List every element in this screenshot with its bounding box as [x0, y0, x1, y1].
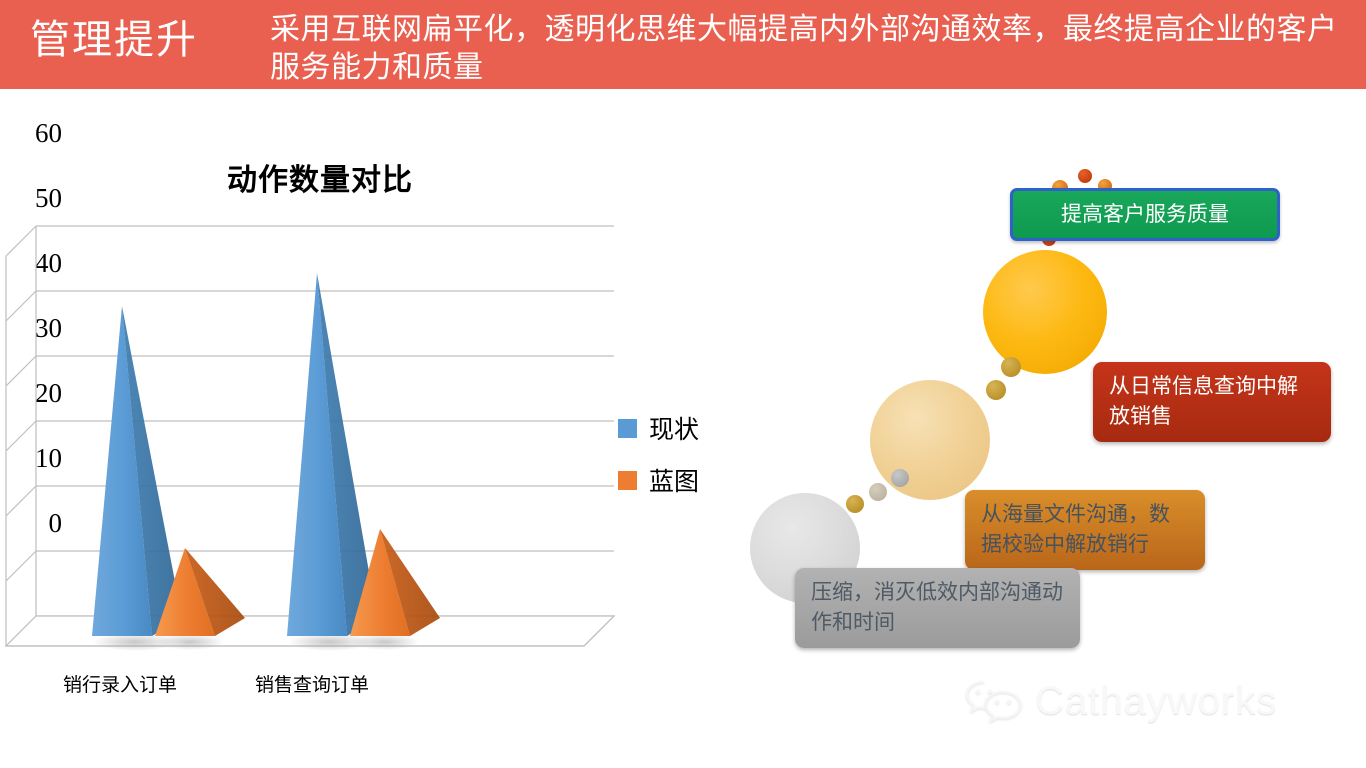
legend-label-0: 现状: [649, 410, 699, 446]
node-goal-box[interactable]: 提高客户服务质量: [1010, 188, 1280, 241]
legend-item-1: 蓝图: [618, 462, 699, 498]
wechat-icon: [965, 678, 1023, 724]
x-label-1: 销售查询订单: [222, 670, 402, 697]
slide-root: 管理提升 采用互联网扁平化，透明化思维大幅提高内外部沟通效率，最终提高企业的客户…: [0, 0, 1366, 768]
dot-trail-low-1: [846, 495, 864, 513]
y-tick-60: 60: [0, 118, 62, 149]
legend-label-1: 蓝图: [649, 462, 699, 498]
bubble-sales: [983, 250, 1107, 374]
chart-depth-edges: [6, 226, 36, 646]
legend-swatch-蓝图: [618, 471, 637, 490]
node-xiaohang-label: 从海量文件沟通，数据校验中解放销行: [981, 500, 1189, 560]
chart-title: 动作数量对比: [0, 155, 640, 199]
chart-legend: 现状 蓝图: [618, 410, 699, 514]
x-label-0: 销行录入订单: [30, 670, 210, 697]
dot-trail-mid-2: [1001, 357, 1021, 377]
watermark-brand: Cathayworks: [1035, 679, 1277, 724]
node-internal-label: 压缩，消灭低效内部沟通动作和时间: [811, 578, 1064, 638]
node-goal-label: 提高客户服务质量: [1061, 200, 1229, 230]
node-internal-box[interactable]: 压缩，消灭低效内部沟通动作和时间: [795, 568, 1080, 648]
legend-item-0: 现状: [618, 410, 699, 446]
page-title: 管理提升: [0, 0, 270, 62]
dot-trail-low-2: [869, 483, 887, 501]
dot-trail-mid-1: [986, 380, 1006, 400]
y-tick-50: 50: [0, 183, 62, 214]
slide-header: 管理提升 采用互联网扁平化，透明化思维大幅提高内外部沟通效率，最终提高企业的客户…: [0, 0, 1366, 89]
staircase-diagram: 提高客户服务质量 从日常信息查询中解放销售 从海量文件沟通，数据校验中解放销行 …: [700, 100, 1366, 720]
bubble-xiaohang: [870, 380, 990, 500]
watermark: Cathayworks: [965, 678, 1277, 724]
node-xiaohang-box[interactable]: 从海量文件沟通，数据校验中解放销行: [965, 490, 1205, 570]
chart-panel: 动作数量对比 60 50 40 30 20 10 0: [0, 100, 710, 720]
dot-trail-top-7: [1078, 169, 1092, 183]
node-sales-box[interactable]: 从日常信息查询中解放销售: [1093, 362, 1331, 442]
chart-plot-area: [0, 218, 640, 658]
legend-swatch-现状: [618, 419, 637, 438]
dot-trail-low-3: [891, 469, 909, 487]
node-sales-label: 从日常信息查询中解放销售: [1109, 372, 1315, 432]
header-subtitle: 采用互联网扁平化，透明化思维大幅提高内外部沟通效率，最终提高企业的客户服务能力和…: [270, 0, 1366, 87]
